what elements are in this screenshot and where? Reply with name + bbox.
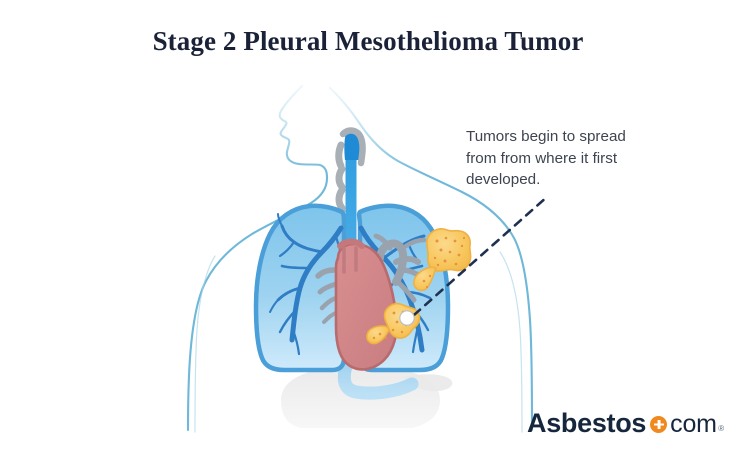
callout-annotation: Tumors begin to spread from from where i…: [466, 126, 656, 191]
infographic-canvas: Stage 2 Pleural Mesothelioma Tumor: [0, 0, 736, 456]
pleural-mesothelioma-illustration: [0, 0, 736, 456]
orange-plus-circle-icon: [650, 416, 667, 433]
logo-tld-text: com: [670, 410, 717, 439]
white-circle-marker: [400, 311, 414, 325]
asbestos-com-logo[interactable]: Asbestos com ®: [527, 408, 724, 439]
logo-brand-text: Asbestos: [527, 408, 646, 439]
registered-trademark-icon: ®: [718, 424, 724, 433]
